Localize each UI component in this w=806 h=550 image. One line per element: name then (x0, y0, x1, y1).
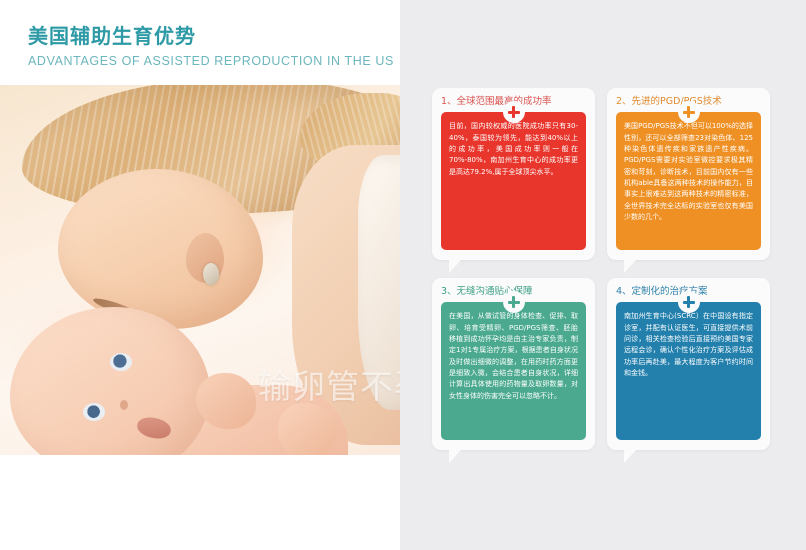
photo-mother-and-baby (0, 85, 426, 455)
advantage-card[interactable]: 1、全球范围最高的成功率 目前，国内较权威的医院成功率只有30-40%，泰国较为… (432, 88, 595, 260)
advantage-card[interactable]: 4、定制化的治疗方案 南加州生育中心(SCRC）在中国设有指定诊室，并配有认证医… (607, 278, 770, 450)
left-content-panel: 美国辅助生育优势 ADVANTAGES OF ASSISTED REPRODUC… (0, 0, 400, 550)
card-bubble-tail (449, 259, 462, 273)
page-heading: 美国辅助生育优势 ADVANTAGES OF ASSISTED REPRODUC… (28, 26, 388, 69)
photo-baby-nose (120, 400, 128, 410)
photo-baby-head (10, 307, 210, 455)
card-bubble-tail (624, 449, 637, 463)
card-body-text: 在美国，从做试管的身体检查、促排、取卵、培育受精卵、PGD/PGS筛查、胚胎移植… (449, 312, 578, 399)
card-body: 目前，国内较权威的医院成功率只有30-40%，泰国较为领先，能达到40%以上的成… (441, 112, 586, 250)
plus-icon (678, 291, 700, 313)
plus-icon (678, 101, 700, 123)
plus-icon (503, 101, 525, 123)
plus-icon-bar-vertical (512, 106, 515, 118)
page-title-cn: 美国辅助生育优势 (28, 26, 388, 48)
page-root: 美国辅助生育优势 ADVANTAGES OF ASSISTED REPRODUC… (0, 0, 806, 550)
plus-icon-bar-vertical (687, 296, 690, 308)
card-body-text: 南加州生育中心(SCRC）在中国设有指定诊室，并配有认证医生，可直接提供术前问诊… (624, 312, 753, 377)
photo-mother-hand (196, 373, 256, 429)
photo-earring (203, 263, 219, 285)
photo-baby-hand (278, 403, 336, 455)
panel-divider (400, 0, 418, 550)
plus-icon-bar-vertical (687, 106, 690, 118)
card-bubble-tail (624, 259, 637, 273)
plus-icon-bar-vertical (512, 296, 515, 308)
hero-photo: 输卵管不孕是否能做试管 (0, 85, 426, 455)
page-title-en: ADVANTAGES OF ASSISTED REPRODUCTION IN T… (28, 55, 388, 69)
photo-baby-eye-left (110, 353, 132, 371)
photo-baby-eye-right (83, 403, 105, 421)
card-bubble-tail (449, 449, 462, 463)
card-body: 美国PGD/PGS技术不但可以100%的选择性别，还可以全部筛查23对染色体、1… (616, 112, 761, 250)
card-body-text: 目前，国内较权威的医院成功率只有30-40%，泰国较为领先，能达到40%以上的成… (449, 122, 578, 175)
plus-icon (503, 291, 525, 313)
cards-panel (418, 0, 806, 550)
advantage-card[interactable]: 2、先进的PGD/PGS技术 美国PGD/PGS技术不但可以100%的选择性别，… (607, 88, 770, 260)
advantage-card[interactable]: 3、无缝沟通贴心保障 在美国，从做试管的身体检查、促排、取卵、培育受精卵、PGD… (432, 278, 595, 450)
card-body-text: 美国PGD/PGS技术不但可以100%的选择性别，还可以全部筛查23对染色体、1… (624, 122, 753, 221)
card-body: 南加州生育中心(SCRC）在中国设有指定诊室，并配有认证医生，可直接提供术前问诊… (616, 302, 761, 440)
card-body: 在美国，从做试管的身体检查、促排、取卵、培育受精卵、PGD/PGS筛查、胚胎移植… (441, 302, 586, 440)
